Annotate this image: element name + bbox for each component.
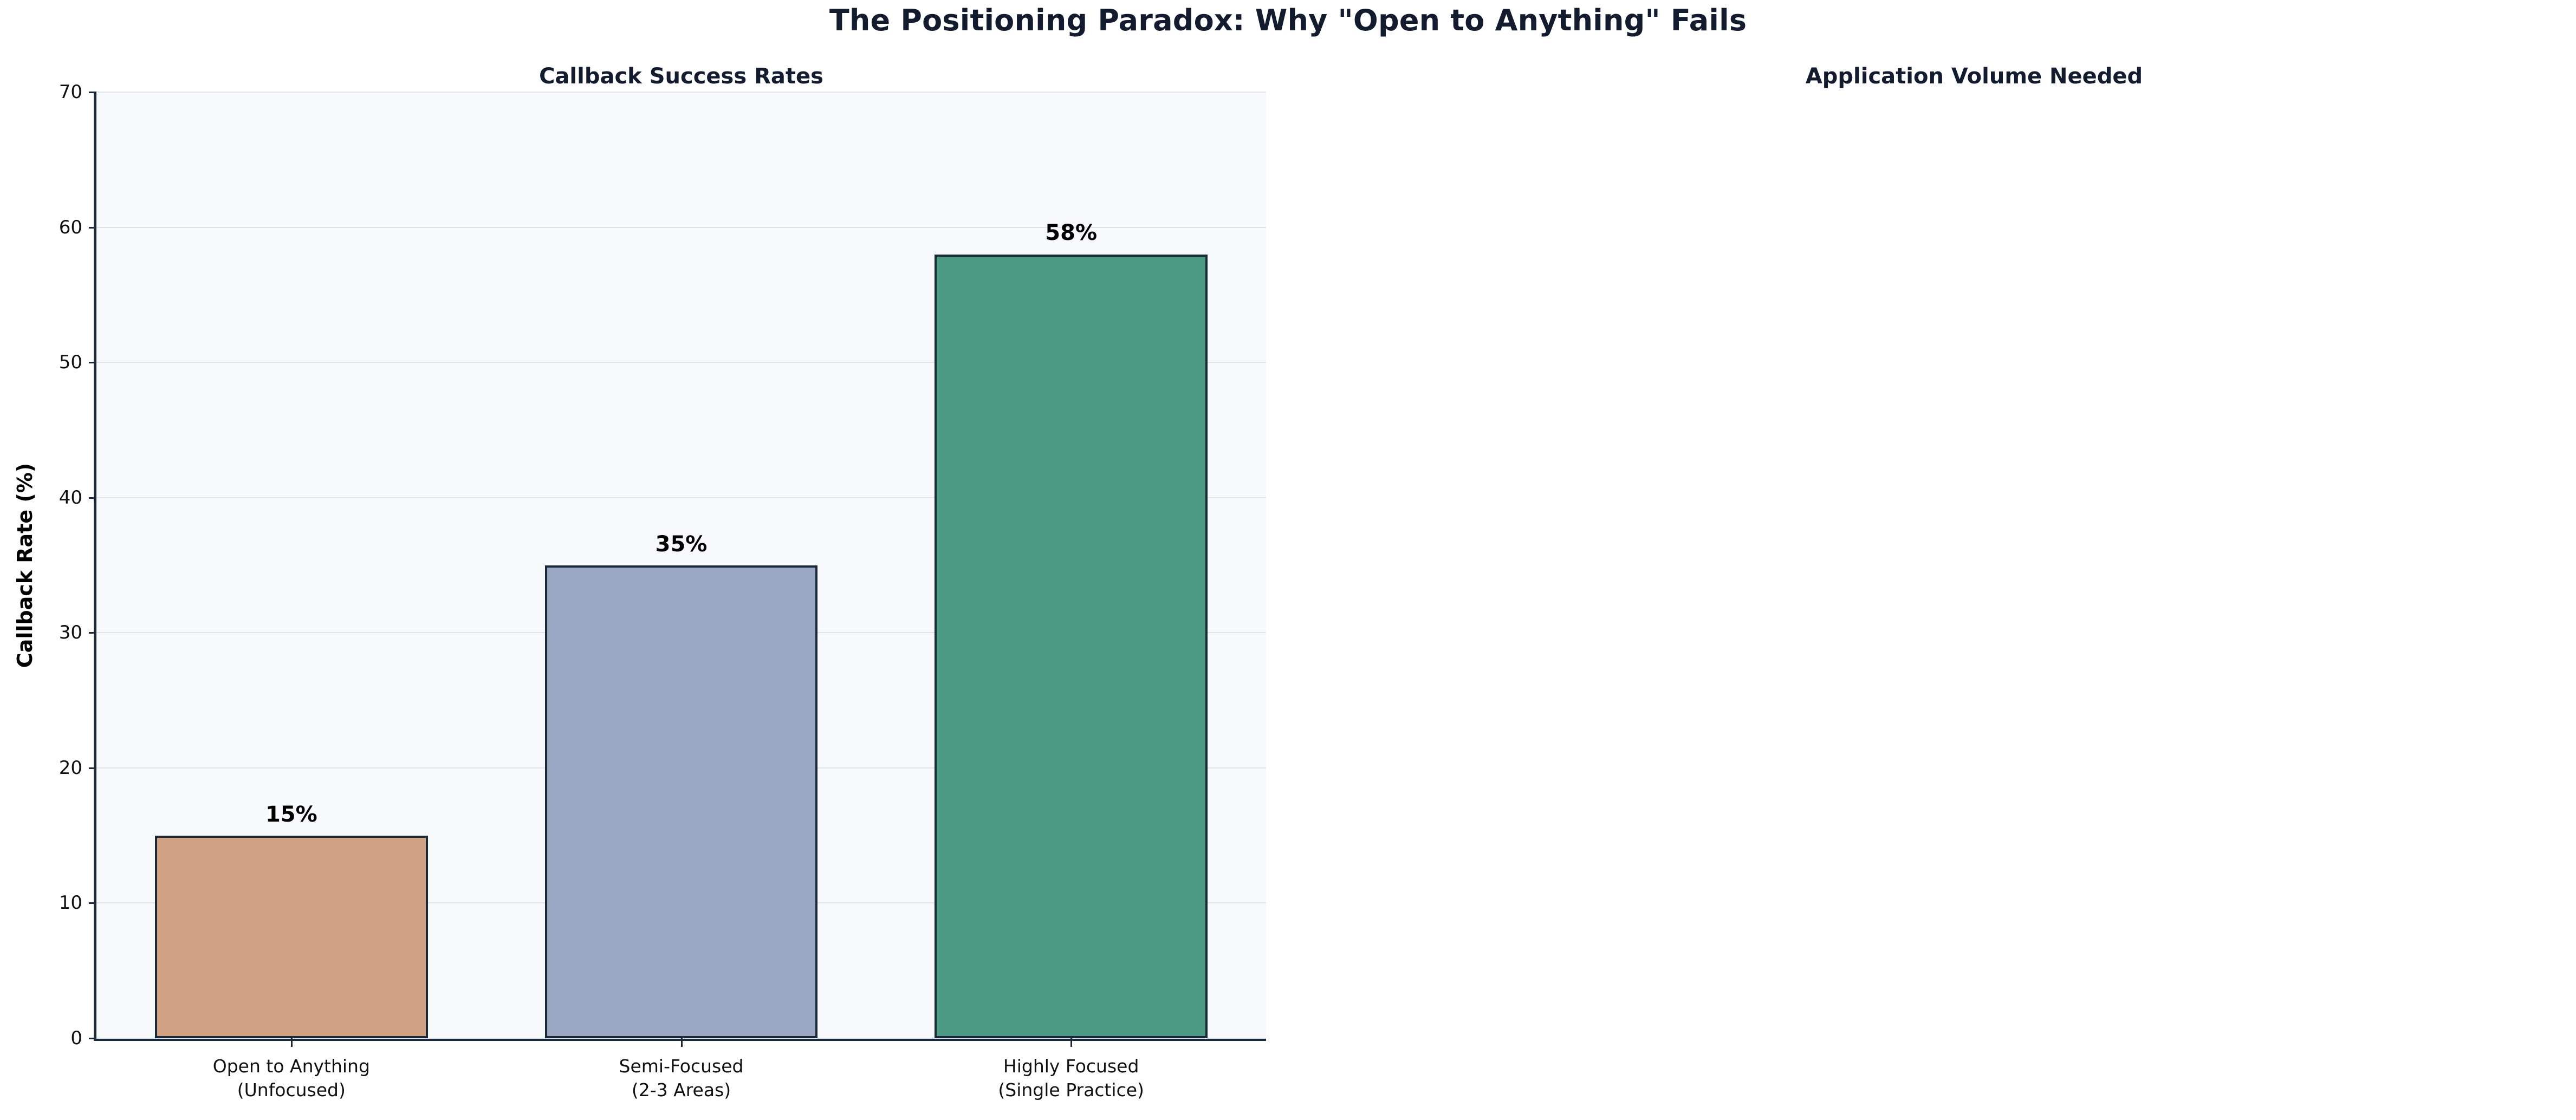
y-tick-label: 40 bbox=[59, 487, 82, 509]
x-tick-label-line: Open to Anything bbox=[213, 1054, 370, 1078]
bar-value-label: 35% bbox=[656, 532, 708, 557]
y-tick-mark bbox=[89, 632, 96, 634]
y-tick-mark bbox=[89, 767, 96, 769]
subplot-callback-success-rates: Callback Success Rates Callback Rate (%)… bbox=[0, 0, 1289, 1120]
bar-value-label: 15% bbox=[265, 802, 317, 827]
y-tick-label: 30 bbox=[59, 622, 82, 643]
bar[interactable] bbox=[545, 565, 818, 1039]
y-tick-label: 20 bbox=[59, 757, 82, 779]
x-tick-mark bbox=[1070, 1038, 1072, 1047]
x-tick-label: Semi-Focused(2-3 Areas) bbox=[619, 1054, 744, 1102]
subplot-application-volume-needed: Application Volume Needed Applications R… bbox=[1289, 0, 2576, 1120]
x-tick-label-line: (Unfocused) bbox=[213, 1078, 370, 1102]
y-tick-label: 60 bbox=[59, 217, 82, 238]
x-tick-label: Highly Focused(Single Practice) bbox=[998, 1054, 1144, 1102]
y-tick-mark bbox=[89, 92, 96, 93]
x-tick-label-line: Semi-Focused bbox=[619, 1054, 744, 1078]
x-tick-label-line: (Single Practice) bbox=[998, 1078, 1144, 1102]
y-tick-label: 10 bbox=[59, 892, 82, 914]
bar[interactable] bbox=[935, 255, 1208, 1039]
y-tick-mark bbox=[89, 902, 96, 904]
y-axis-label-left: Callback Rate (%) bbox=[13, 463, 37, 667]
bar-value-label: 58% bbox=[1045, 220, 1097, 245]
axes-title-right: Application Volume Needed bbox=[1388, 64, 2560, 89]
axes-title-left: Callback Success Rates bbox=[96, 64, 1266, 89]
y-tick-mark bbox=[89, 227, 96, 229]
y-tick-label: 70 bbox=[59, 81, 82, 103]
y-gridline bbox=[96, 92, 1266, 93]
x-tick-label-line: Highly Focused bbox=[998, 1054, 1144, 1078]
y-tick-label: 50 bbox=[59, 351, 82, 373]
axis-spine-left-left bbox=[94, 92, 96, 1038]
x-tick-label-line: (2-3 Areas) bbox=[619, 1078, 744, 1102]
y-tick-label: 0 bbox=[70, 1027, 82, 1049]
y-tick-mark bbox=[89, 362, 96, 363]
y-tick-mark bbox=[89, 497, 96, 499]
x-tick-label: Open to Anything(Unfocused) bbox=[213, 1054, 370, 1102]
y-tick-mark bbox=[89, 1038, 96, 1039]
bar[interactable] bbox=[155, 836, 428, 1038]
chart-figure: The Positioning Paradox: Why "Open to An… bbox=[0, 0, 2576, 1120]
x-tick-mark bbox=[681, 1038, 683, 1047]
plot-area-left: 01020304050607015%Open to Anything(Unfoc… bbox=[96, 92, 1266, 1038]
x-tick-mark bbox=[291, 1038, 293, 1047]
